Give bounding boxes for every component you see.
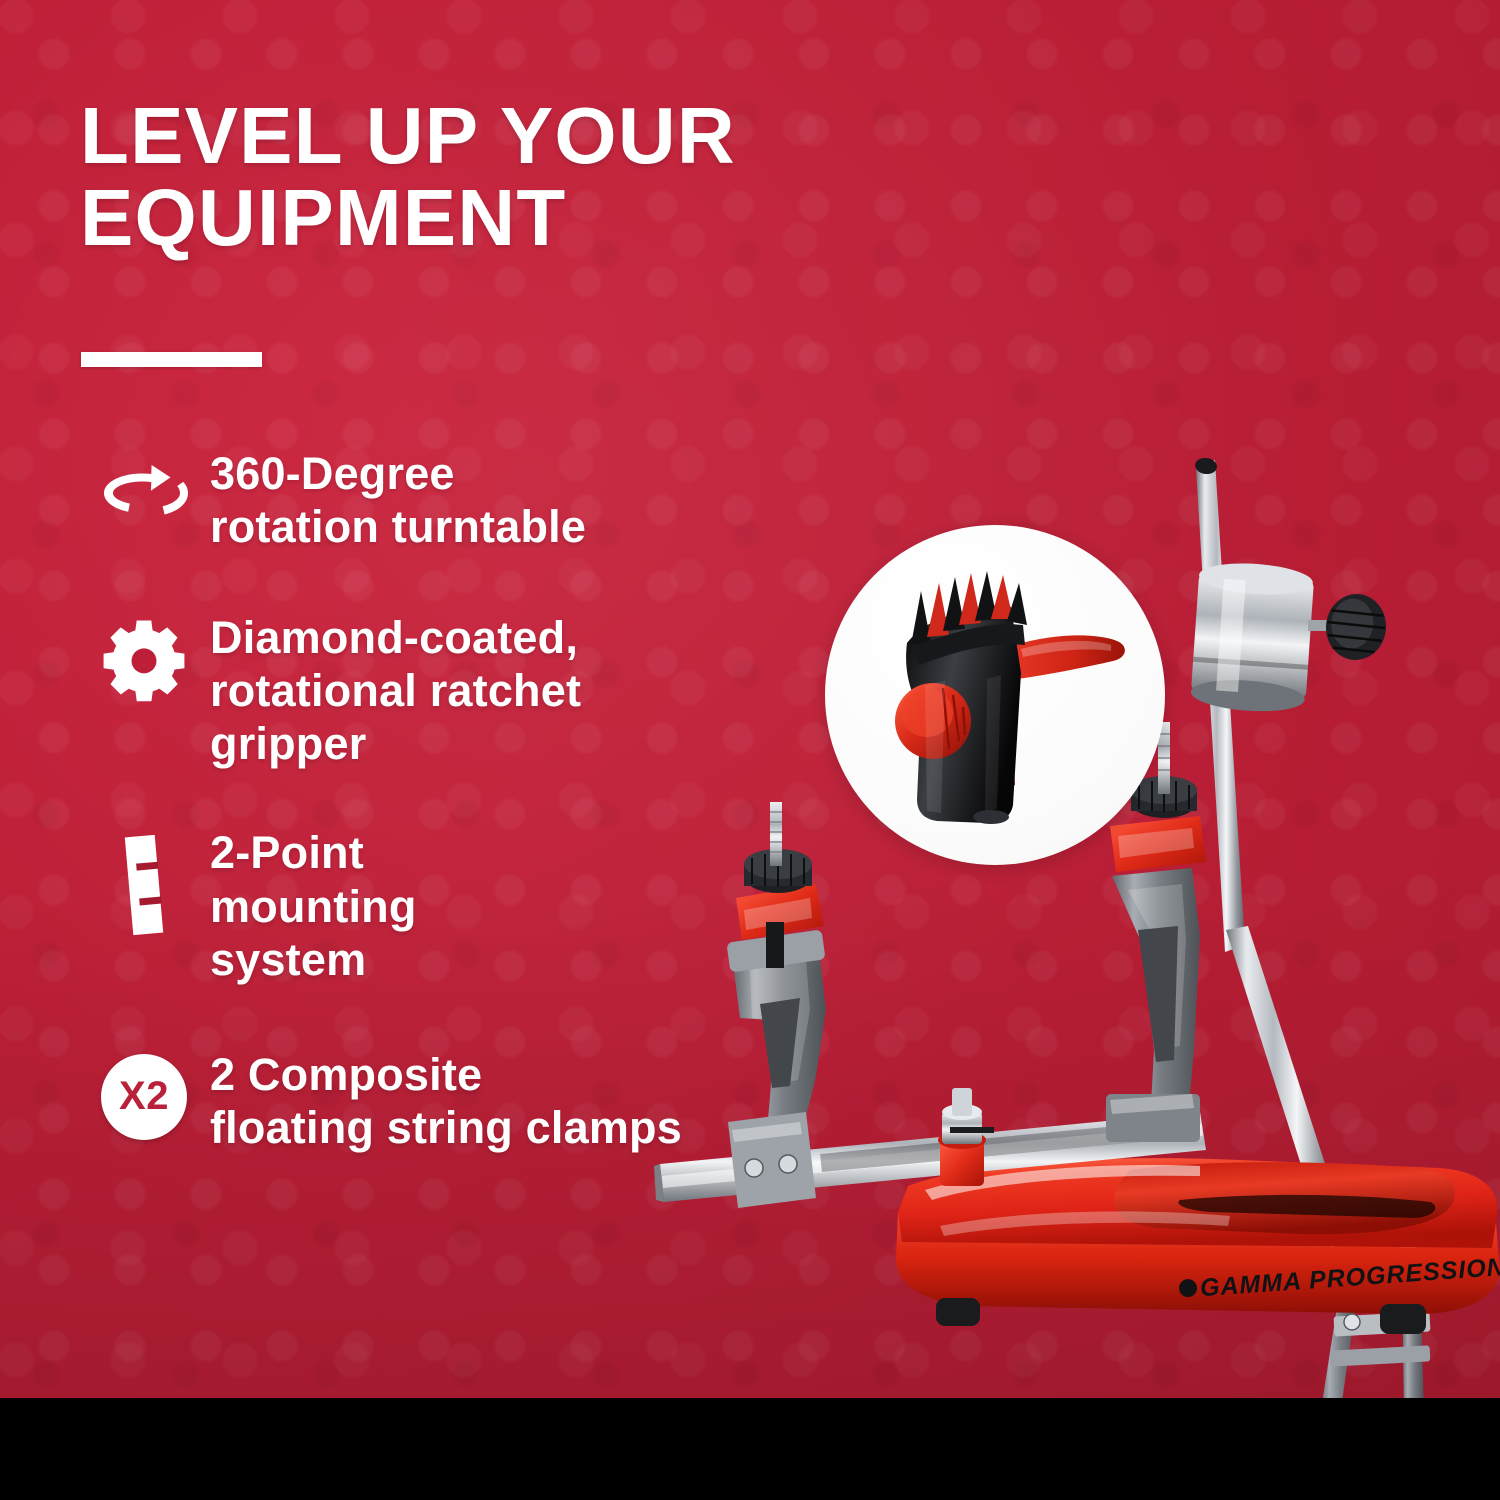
page-title: LEVEL UP YOUR EQUIPMENT <box>80 95 840 260</box>
mounting-tower-left <box>726 802 826 1208</box>
x2-badge-label: X2 <box>101 1054 187 1140</box>
feature-text-clamps: 2 Composite floating string clamps <box>210 1048 682 1154</box>
headline-line-2: EQUIPMENT <box>80 177 840 259</box>
promo-graphic: LEVEL UP YOUR EQUIPMENT 360-Degree rotat… <box>0 0 1500 1500</box>
rotation-arrow-icon <box>78 447 210 533</box>
feature-text-rotation: 360-Degree rotation turntable <box>210 447 586 553</box>
feature-line: rotation turntable <box>210 500 586 553</box>
drop-weight-tensioner <box>1190 457 1389 1218</box>
feature-line: 360-Degree <box>210 447 586 500</box>
title-divider <box>81 352 262 367</box>
product-photo: GAMMA PROGRESSION II <box>640 370 1500 1400</box>
feature-line: mounting <box>210 880 417 933</box>
feature-text-gripper: Diamond-coated, rotational ratchet gripp… <box>210 611 581 770</box>
feature-line: 2-Point <box>210 826 417 879</box>
gear-icon <box>78 611 210 703</box>
mounting-rail-icon <box>78 826 210 938</box>
bottom-black-bar <box>0 1398 1500 1500</box>
feature-text-mounting: 2-Point mounting system <box>210 826 417 985</box>
feature-line: rotational ratchet <box>210 664 581 717</box>
feature-line: system <box>210 933 417 986</box>
headline-line-1: LEVEL UP YOUR <box>80 91 736 180</box>
feature-line: gripper <box>210 717 581 770</box>
feature-line: Diamond-coated, <box>210 611 581 664</box>
clamp-closeup-inset <box>825 525 1165 865</box>
feature-line: 2 Composite <box>210 1048 682 1101</box>
x2-badge-icon: X2 <box>78 1048 210 1140</box>
feature-line: floating string clamps <box>210 1101 682 1154</box>
